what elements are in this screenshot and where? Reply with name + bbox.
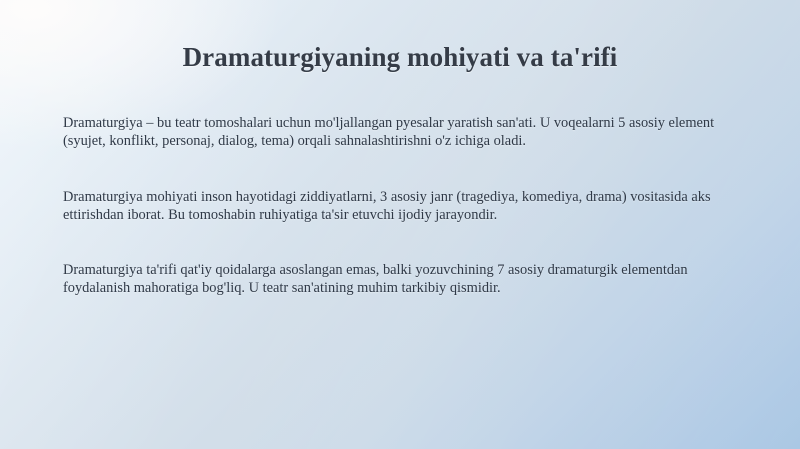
presentation-slide: Dramaturgiyaning mohiyati va ta'rifi Dra… <box>0 0 800 449</box>
page-title: Dramaturgiyaning mohiyati va ta'rifi <box>0 42 800 73</box>
slide-content: Dramaturgiyaning mohiyati va ta'rifi Dra… <box>0 0 800 449</box>
paragraph-essence: Dramaturgiya mohiyati inson hayotidagi z… <box>63 188 739 225</box>
paragraph-definition: Dramaturgiya – bu teatr tomoshalari uchu… <box>63 114 739 151</box>
body-text-container: Dramaturgiya – bu teatr tomoshalari uchu… <box>63 114 739 297</box>
paragraph-meaning: Dramaturgiya ta'rifi qat'iy qoidalarga a… <box>63 261 753 298</box>
